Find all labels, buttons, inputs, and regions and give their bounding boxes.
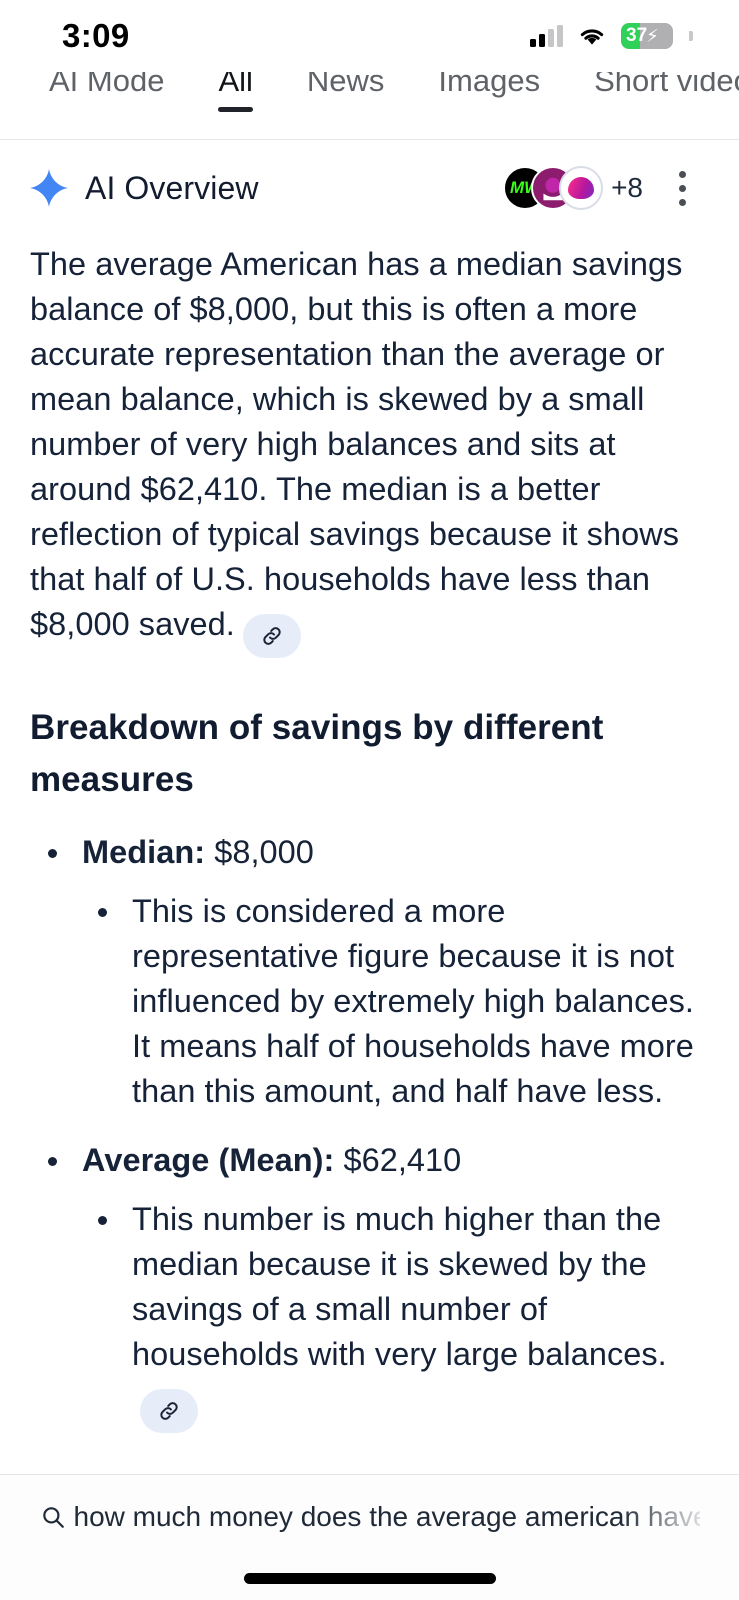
average-sub-text: This number is much higher than the medi… bbox=[132, 1201, 667, 1372]
tab-news[interactable]: News bbox=[280, 72, 412, 102]
sub-list-item: This is considered a more representative… bbox=[82, 889, 709, 1114]
list-item-average-text: Average (Mean): $62,410 bbox=[82, 1138, 709, 1183]
battery-charging-icon: 37 ⚡ bbox=[621, 23, 673, 49]
sparkle-icon bbox=[30, 169, 68, 207]
source-avatars[interactable]: MW bbox=[503, 166, 603, 210]
ai-overview-title: AI Overview bbox=[85, 170, 259, 207]
home-indicator bbox=[244, 1573, 496, 1584]
tab-short-videos[interactable]: Short videos bbox=[567, 72, 739, 102]
median-sublist: This is considered a more representative… bbox=[82, 889, 709, 1114]
ai-overview-paragraph: The average American has a median saving… bbox=[30, 242, 709, 658]
median-sub-text: This is considered a more representative… bbox=[132, 889, 709, 1114]
bottom-search-bar[interactable]: how much money does the average american… bbox=[0, 1474, 739, 1600]
search-icon bbox=[40, 1504, 66, 1530]
average-sublist: This number is much higher than the medi… bbox=[82, 1197, 709, 1433]
avatar-source-3[interactable] bbox=[559, 166, 603, 210]
status-icons: 37 ⚡ bbox=[530, 23, 693, 49]
average-term: Average (Mean): bbox=[82, 1142, 334, 1178]
wifi-icon bbox=[577, 25, 607, 47]
status-time: 3:09 bbox=[62, 17, 130, 55]
phone-screen: 3:09 37 ⚡ AI Mode All News Images S bbox=[0, 0, 739, 1600]
search-query-row[interactable]: how much money does the average american… bbox=[40, 1499, 700, 1535]
list-item-median: Median: $8,000 This is considered a more… bbox=[30, 830, 709, 1114]
ai-overview-panel: AI Overview MW +8 bbox=[0, 140, 739, 1474]
link-icon[interactable] bbox=[243, 614, 301, 658]
sub-list-item: This number is much higher than the medi… bbox=[82, 1197, 709, 1433]
median-value: $8,000 bbox=[205, 834, 314, 870]
search-tabs-bar[interactable]: AI Mode All News Images Short videos Sh bbox=[0, 72, 739, 140]
link-icon[interactable] bbox=[140, 1389, 198, 1433]
search-query-text[interactable]: how much money does the average american… bbox=[74, 1499, 700, 1535]
median-term: Median: bbox=[82, 834, 205, 870]
tab-all[interactable]: All bbox=[191, 72, 279, 102]
battery-cap bbox=[689, 31, 693, 41]
paragraph-text: The average American has a median saving… bbox=[30, 246, 682, 642]
tab-ai-mode[interactable]: AI Mode bbox=[22, 72, 191, 102]
ai-overview-header: AI Overview MW +8 bbox=[30, 140, 709, 236]
status-bar: 3:09 37 ⚡ bbox=[0, 0, 739, 72]
section-heading-breakdown: Breakdown of savings by different measur… bbox=[30, 702, 709, 806]
list-item-median-text: Median: $8,000 bbox=[82, 830, 709, 875]
ai-overview-sources[interactable]: MW +8 bbox=[503, 162, 705, 214]
charging-bolt-icon: ⚡ bbox=[646, 23, 659, 49]
cellular-signal-icon bbox=[530, 25, 563, 47]
search-tabs[interactable]: AI Mode All News Images Short videos Sh bbox=[0, 72, 739, 140]
battery-percent: 37 bbox=[621, 23, 647, 49]
three-dot-menu-icon[interactable] bbox=[659, 162, 705, 214]
tab-images[interactable]: Images bbox=[411, 72, 567, 102]
average-sub-text-wrap: This number is much higher than the medi… bbox=[132, 1197, 709, 1433]
list-item-average: Average (Mean): $62,410 This number is m… bbox=[30, 1138, 709, 1433]
source-3-glyph bbox=[568, 177, 594, 199]
breakdown-list: Median: $8,000 This is considered a more… bbox=[30, 830, 709, 1433]
more-sources-count[interactable]: +8 bbox=[611, 172, 643, 204]
average-value: $62,410 bbox=[334, 1142, 461, 1178]
